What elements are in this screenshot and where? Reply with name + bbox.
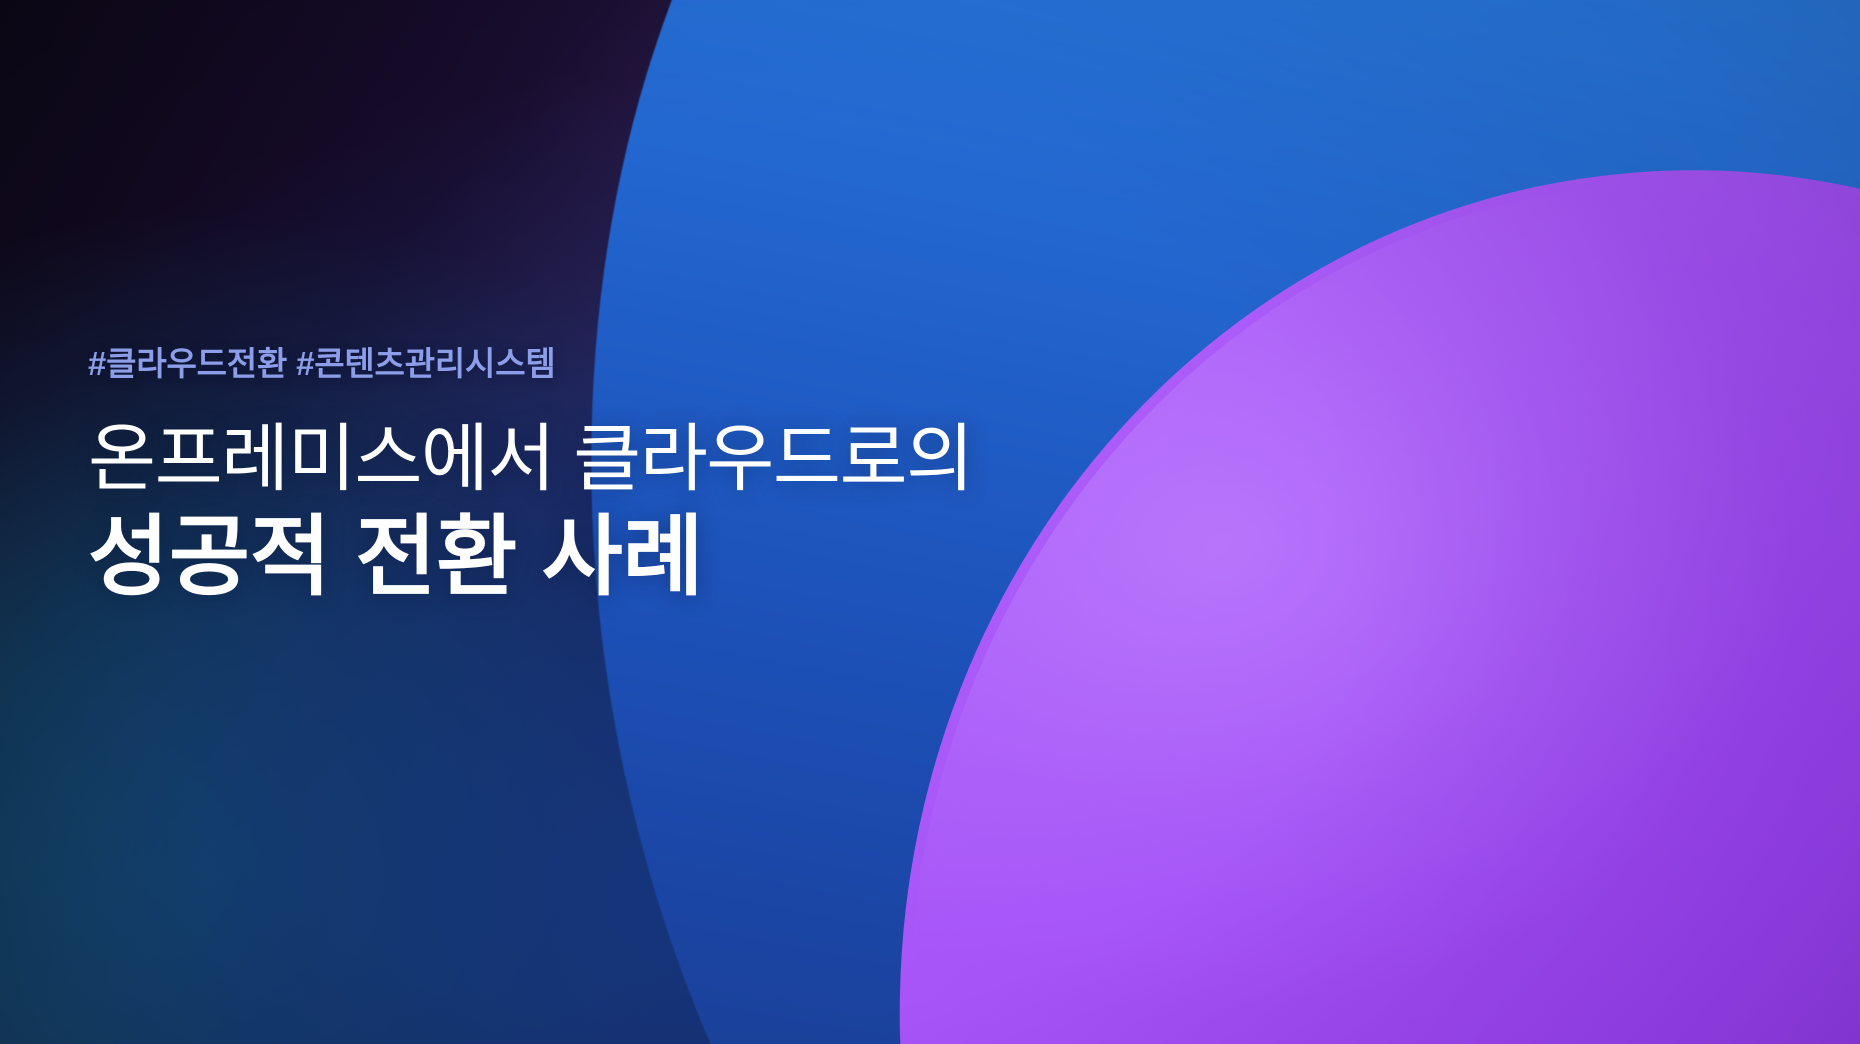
page-title: 온프레미스에서 클라우드로의 성공적 전환 사례 [88,420,1148,604]
headline-line-2: 성공적 전환 사례 [88,510,1148,603]
headline-line-1: 온프레미스에서 클라우드로의 [88,420,1148,498]
banner-content: #클라우드전환 #콘텐츠관리시스템 온프레미스에서 클라우드로의 성공적 전환 … [88,344,1148,603]
hashtag-line: #클라우드전환 #콘텐츠관리시스템 [88,344,1148,384]
hero-banner: #클라우드전환 #콘텐츠관리시스템 온프레미스에서 클라우드로의 성공적 전환 … [0,0,1860,1044]
